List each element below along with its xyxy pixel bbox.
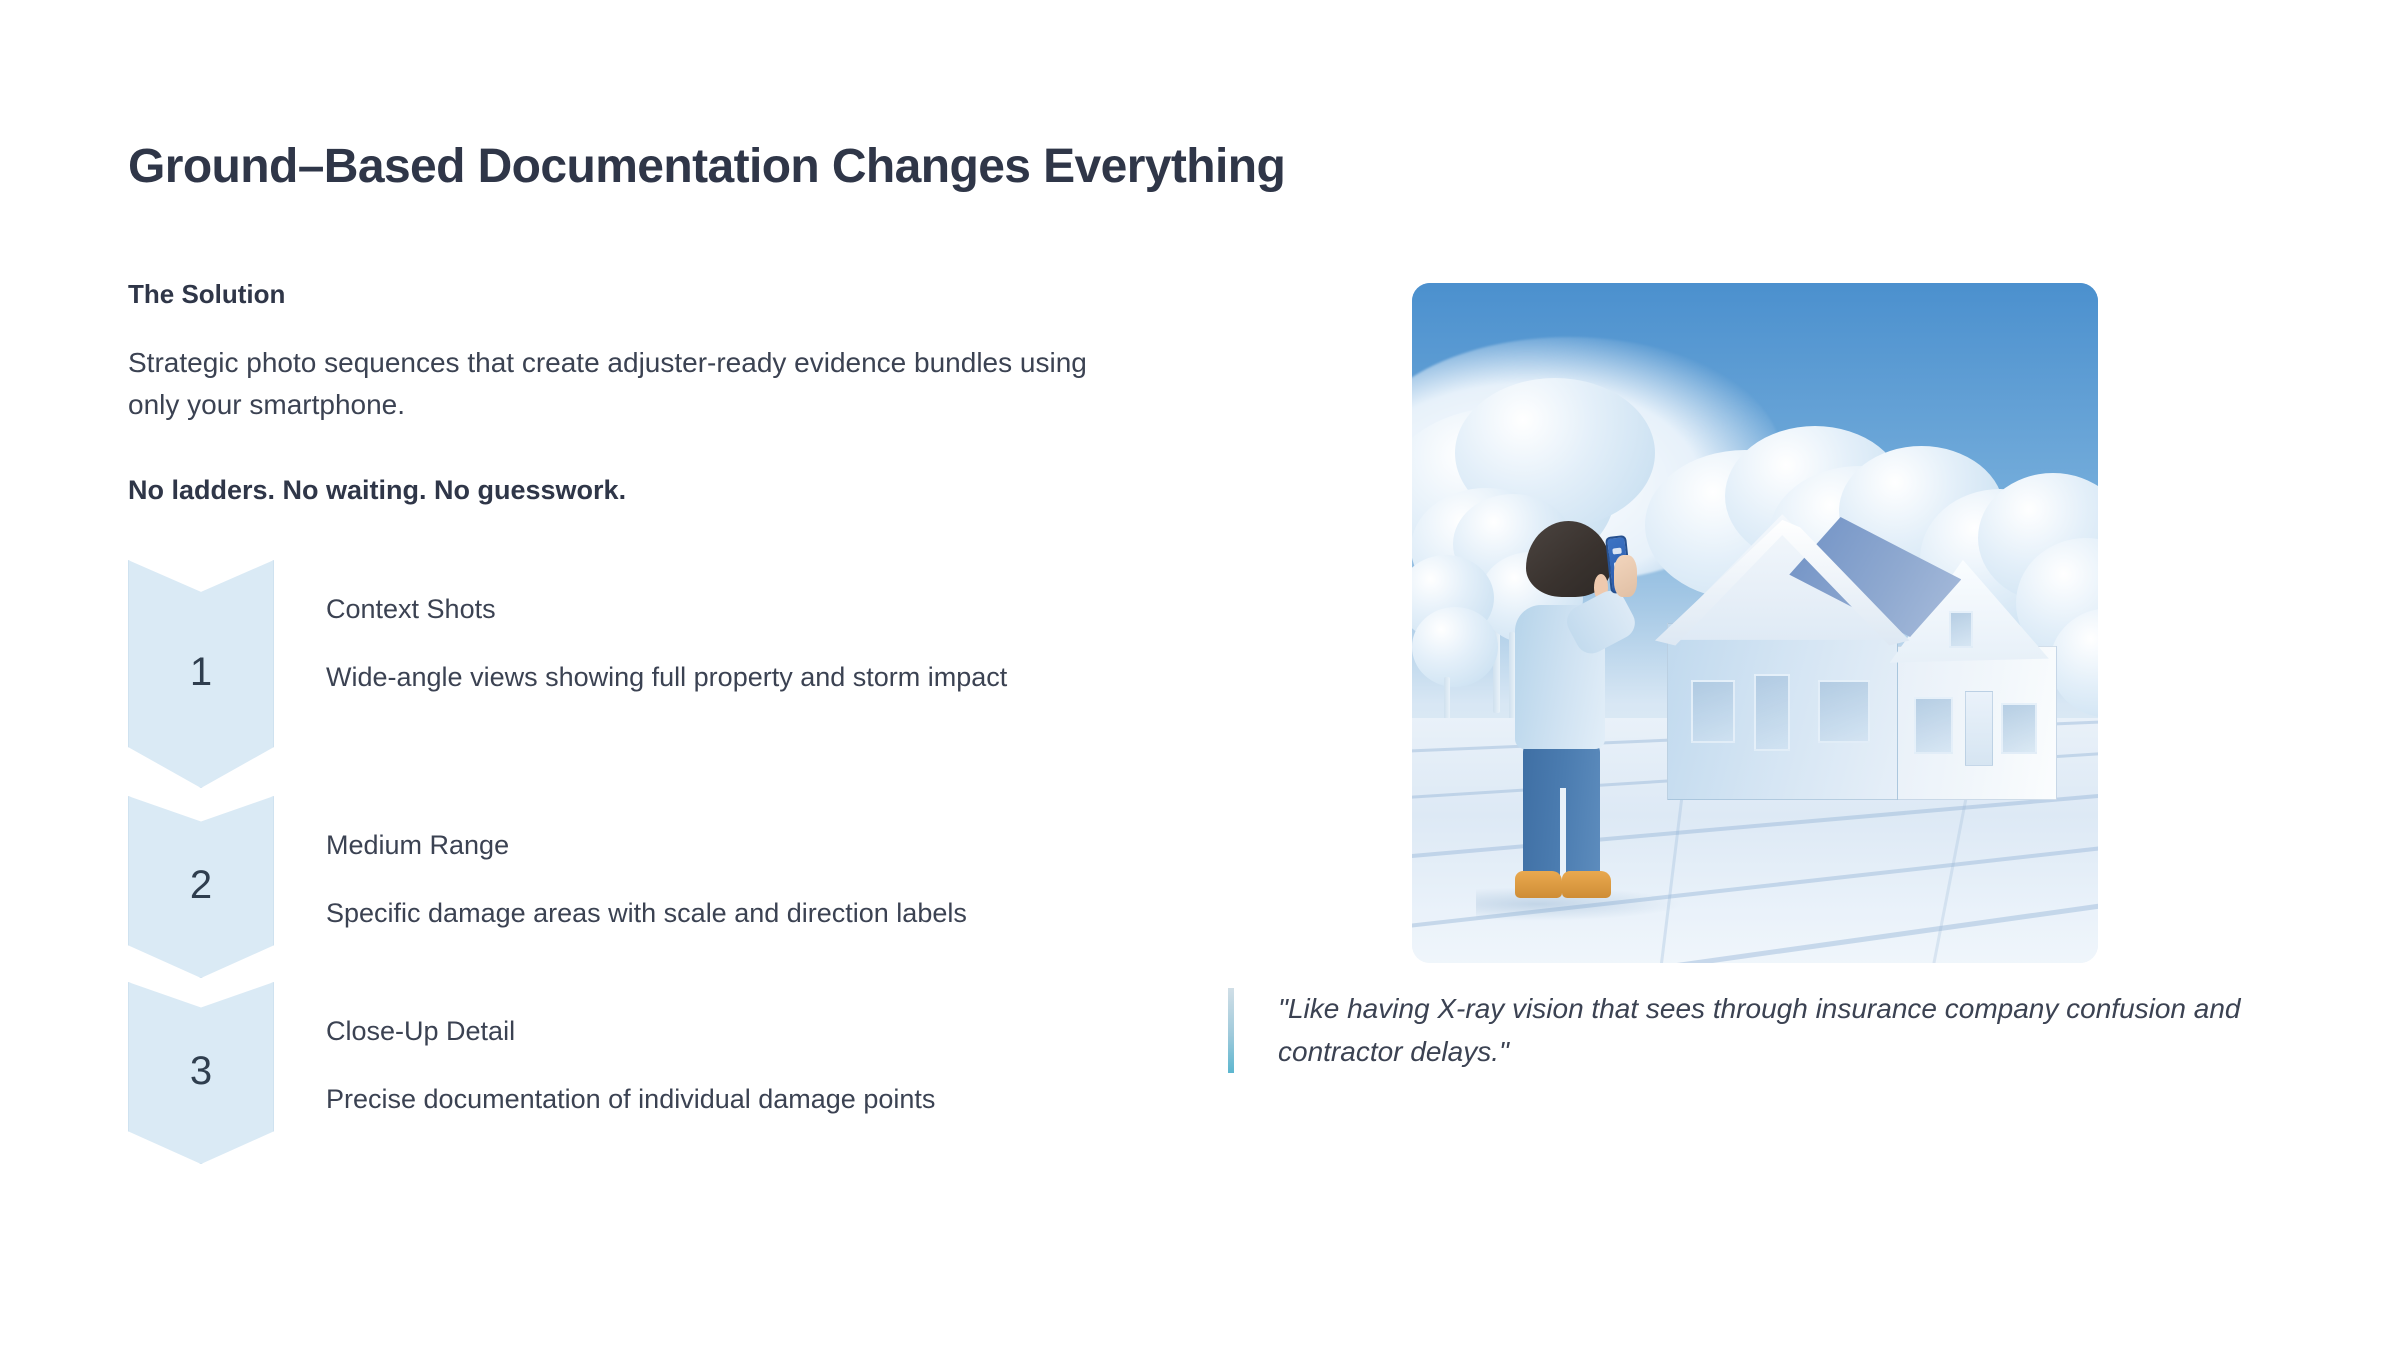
steps-list: 1 Context Shots Wide-angle views showing… (128, 560, 1258, 1168)
step-description: Wide-angle views showing full property a… (326, 657, 1126, 698)
solution-body: Strategic photo sequences that create ad… (128, 342, 1108, 427)
slide-root: Ground–Based Documentation Changes Every… (0, 0, 2400, 1350)
page-title: Ground–Based Documentation Changes Every… (128, 138, 1285, 196)
quote-text: "Like having X-ray vision that sees thro… (1278, 988, 2258, 1073)
step-title: Context Shots (326, 592, 1258, 627)
person-with-smartphone-icon (1501, 521, 1638, 902)
solution-heading: The Solution (128, 278, 1248, 312)
step-title: Close-Up Detail (326, 1014, 1258, 1049)
step-description: Precise documentation of individual dama… (326, 1079, 1126, 1120)
pull-quote: "Like having X-ray vision that sees thro… (1228, 988, 2258, 1073)
step-chevron-badge: 3 (128, 982, 274, 1164)
step-number: 2 (190, 863, 212, 908)
house-icon (1659, 514, 2057, 800)
step-text: Medium Range Specific damage areas with … (274, 796, 1258, 934)
step-item: 1 Context Shots Wide-angle views showing… (128, 560, 1258, 796)
step-title: Medium Range (326, 828, 1258, 863)
step-item: 3 Close-Up Detail Precise documentation … (128, 982, 1258, 1168)
step-number: 3 (190, 1049, 212, 1094)
solution-block: The Solution Strategic photo sequences t… (128, 278, 1248, 508)
step-text: Context Shots Wide-angle views showing f… (274, 560, 1258, 698)
step-chevron-badge: 1 (128, 560, 274, 788)
solution-tagline: No ladders. No waiting. No guesswork. (128, 473, 1248, 508)
illustration-image (1412, 283, 2098, 963)
step-item: 2 Medium Range Specific damage areas wit… (128, 796, 1258, 982)
step-number: 1 (190, 650, 212, 695)
step-description: Specific damage areas with scale and dir… (326, 893, 1126, 934)
step-chevron-badge: 2 (128, 796, 274, 978)
step-text: Close-Up Detail Precise documentation of… (274, 982, 1258, 1120)
